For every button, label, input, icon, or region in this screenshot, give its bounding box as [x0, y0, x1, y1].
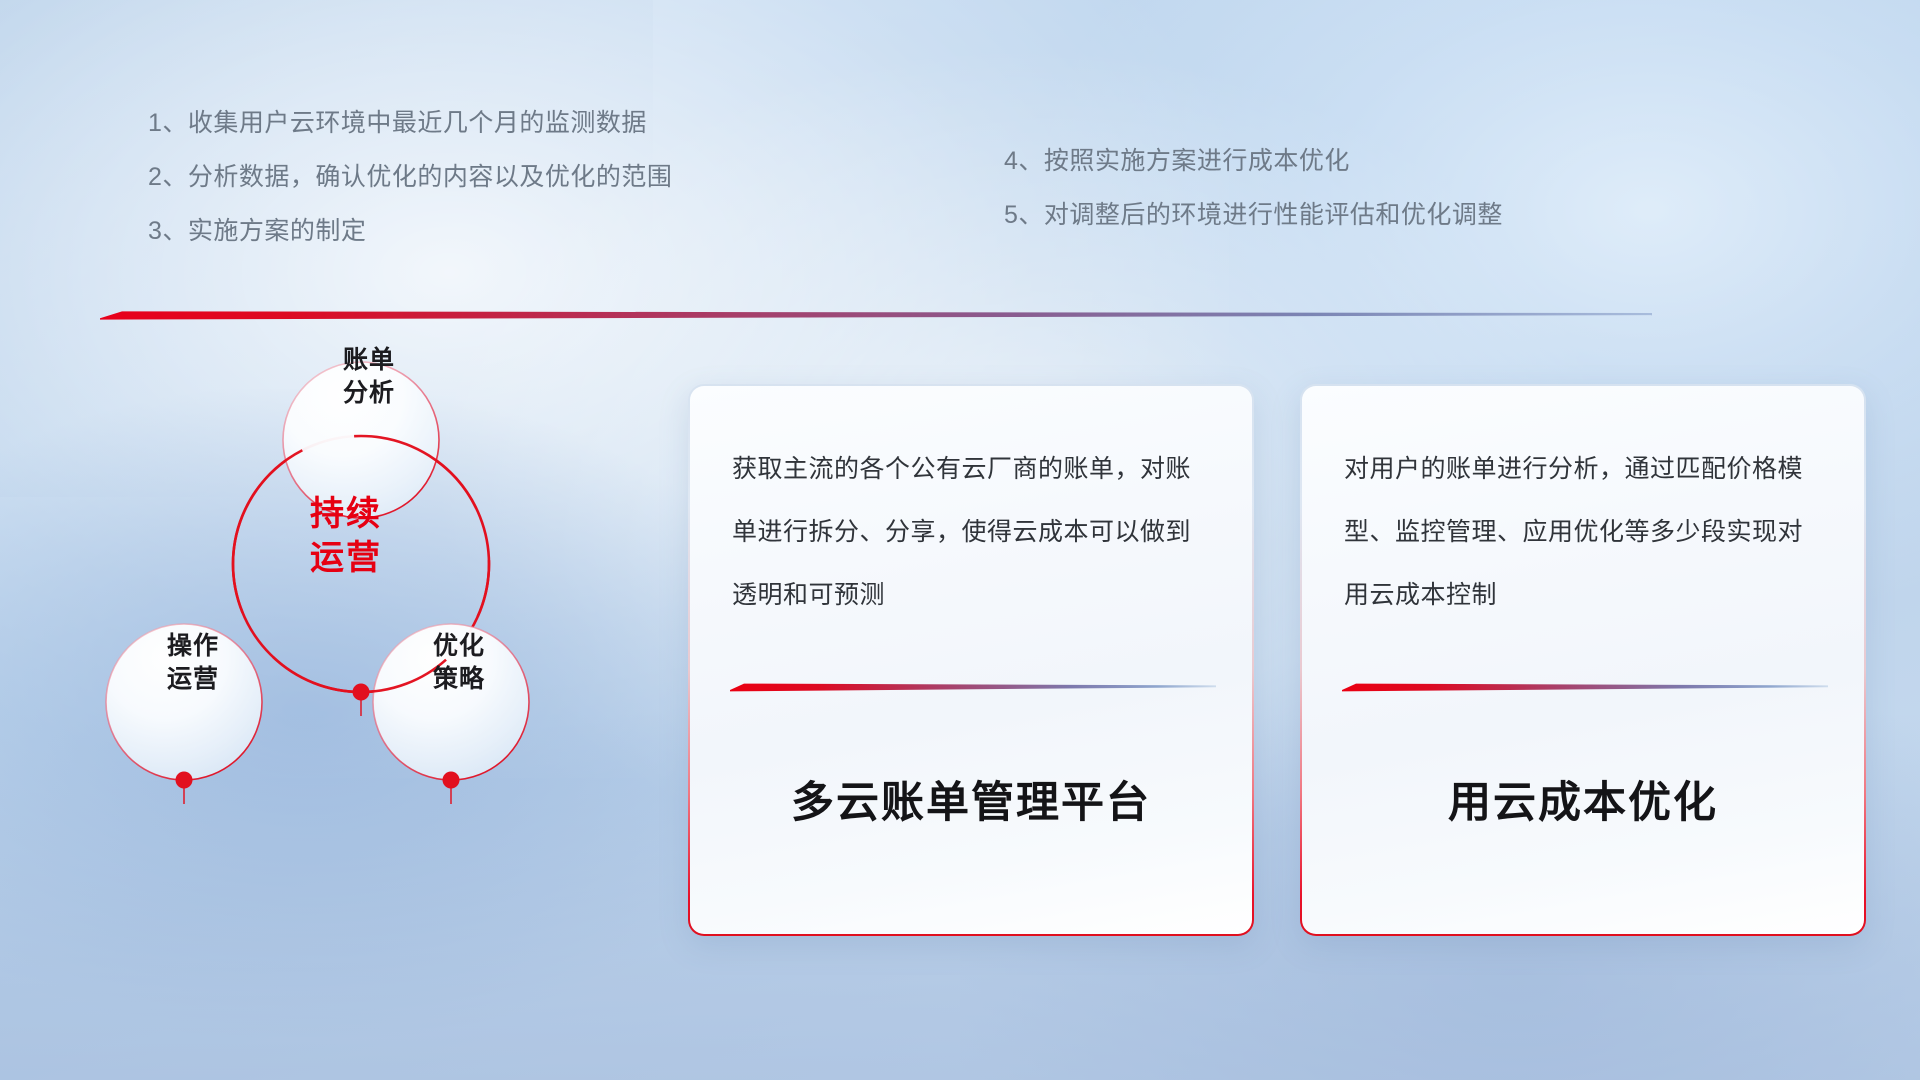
card-body-text: 获取主流的各个公有云厂商的账单，对账单进行拆分、分享，使得云成本可以做到透明和可… [732, 438, 1210, 627]
diagram-node-label-strategy: 优化 策略 [384, 630, 534, 696]
steps-column-left: 1、收集用户云环境中最近几个月的监测数据 2、分析数据，确认优化的内容以及优化的… [148, 96, 672, 258]
section-divider-rule [100, 308, 1652, 322]
step-item: 4、按照实施方案进行成本优化 [1004, 134, 1503, 188]
step-item: 2、分析数据，确认优化的内容以及优化的范围 [148, 150, 672, 204]
card-divider-rule [730, 680, 1216, 692]
center-label-line1: 持续 [246, 492, 446, 536]
node-connector-billing [353, 684, 370, 717]
step-number: 2、 [148, 163, 188, 191]
diagram-node-label-billing: 账单 分析 [294, 344, 444, 410]
cycle-diagram: 账单 分析 操作 运营 优化 策略 持续 运营 [96, 352, 616, 942]
step-item: 5、对调整后的环境进行性能评估和优化调整 [1004, 188, 1503, 242]
card-inner: 对用户的账单进行分析，通过匹配价格模型、监控管理、应用优化等多少段实现对用云成本… [1302, 386, 1864, 934]
node-label-line2: 策略 [384, 663, 534, 696]
node-connector-ops [176, 772, 193, 805]
step-number: 5、 [1004, 201, 1044, 229]
node-label-line2: 运营 [118, 663, 268, 696]
step-text: 对调整后的环境进行性能评估和优化调整 [1044, 201, 1503, 229]
node-label-line1: 优化 [384, 630, 534, 663]
node-label-line1: 操作 [118, 630, 268, 663]
card-inner: 获取主流的各个公有云厂商的账单，对账单进行拆分、分享，使得云成本可以做到透明和可… [690, 386, 1252, 934]
card-body-text: 对用户的账单进行分析，通过匹配价格模型、监控管理、应用优化等多少段实现对用云成本… [1344, 438, 1822, 627]
steps-column-right: 4、按照实施方案进行成本优化 5、对调整后的环境进行性能评估和优化调整 [1004, 134, 1503, 242]
step-text: 按照实施方案进行成本优化 [1044, 147, 1350, 175]
step-number: 3、 [148, 217, 188, 245]
card-divider-rule [1342, 680, 1828, 692]
card-title: 用云成本优化 [1302, 768, 1864, 830]
node-label-line2: 分析 [294, 377, 444, 410]
card-title: 多云账单管理平台 [690, 768, 1252, 830]
step-item: 1、收集用户云环境中最近几个月的监测数据 [148, 96, 672, 150]
slide-canvas: 1、收集用户云环境中最近几个月的监测数据 2、分析数据，确认优化的内容以及优化的… [0, 0, 1920, 1080]
step-text: 收集用户云环境中最近几个月的监测数据 [188, 109, 647, 137]
step-text: 实施方案的制定 [188, 217, 367, 245]
node-label-line1: 账单 [294, 344, 444, 377]
node-connector-strategy [443, 772, 460, 805]
step-number: 4、 [1004, 147, 1044, 175]
step-text: 分析数据，确认优化的内容以及优化的范围 [188, 163, 673, 191]
step-number: 1、 [148, 109, 188, 137]
feature-card-cloud-cost-optimization[interactable]: 对用户的账单进行分析，通过匹配价格模型、监控管理、应用优化等多少段实现对用云成本… [1300, 384, 1866, 936]
center-label-line2: 运营 [246, 536, 446, 580]
feature-card-multicloud-billing[interactable]: 获取主流的各个公有云厂商的账单，对账单进行拆分、分享，使得云成本可以做到透明和可… [688, 384, 1254, 936]
step-item: 3、实施方案的制定 [148, 204, 672, 258]
diagram-node-label-ops: 操作 运营 [118, 630, 268, 696]
steps-list: 1、收集用户云环境中最近几个月的监测数据 2、分析数据，确认优化的内容以及优化的… [0, 96, 1920, 286]
diagram-center-label: 持续 运营 [246, 492, 446, 580]
